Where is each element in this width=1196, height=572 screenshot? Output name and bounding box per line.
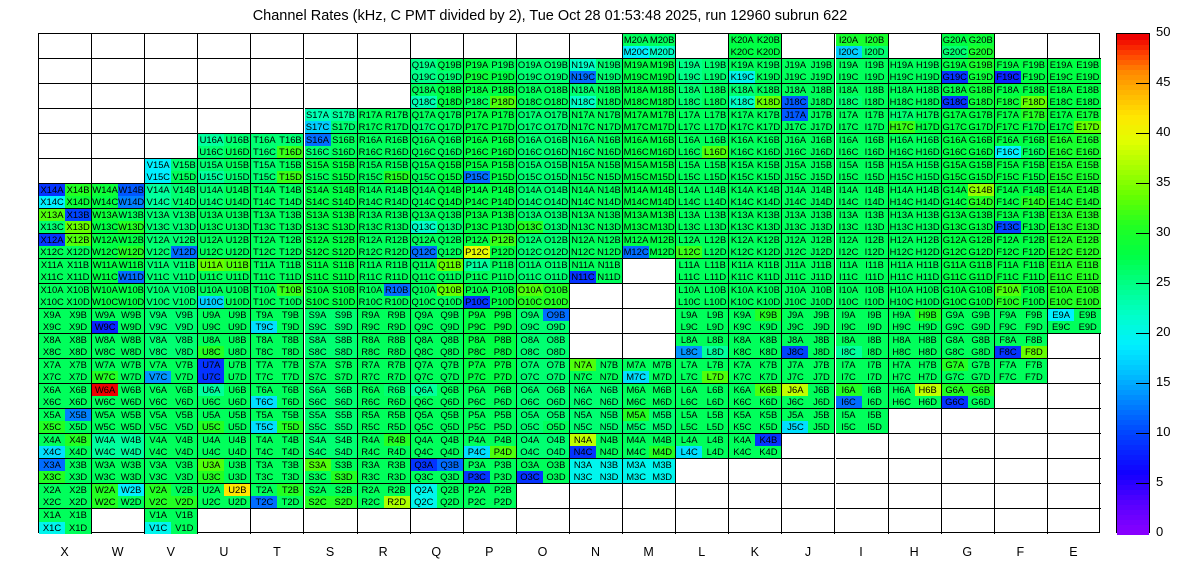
heatmap-cell-m20[interactable]: M20AM20BM20CM20D <box>623 34 676 59</box>
channel-j19c[interactable]: J19C <box>782 71 808 83</box>
heatmap-cell-o9[interactable]: O9AO9BO9CO9D <box>517 309 570 334</box>
channel-s13c[interactable]: S13C <box>305 221 331 233</box>
channel-m7c[interactable]: M7C <box>623 371 649 383</box>
channel-v7c[interactable]: V7C <box>145 371 171 383</box>
channel-k18a[interactable]: K18A <box>729 84 755 96</box>
channel-g12c[interactable]: G12C <box>942 246 968 258</box>
channel-s2b[interactable]: S2B <box>331 484 357 496</box>
channel-h19c[interactable]: H19C <box>889 71 915 83</box>
heatmap-cell-o7[interactable]: O7AO7BO7CO7D <box>517 359 570 384</box>
heatmap-cell-o17[interactable]: O17AO17BO17CO17D <box>517 109 570 134</box>
channel-o6d[interactable]: O6D <box>543 396 569 408</box>
channel-u13a[interactable]: U13A <box>198 209 224 221</box>
channel-i10b[interactable]: I10B <box>862 284 888 296</box>
heatmap-cell-q3[interactable]: Q3AQ3BQ3CQ3D <box>411 459 464 484</box>
channel-l14a[interactable]: L14A <box>676 184 702 196</box>
channel-w7c[interactable]: W7C <box>92 371 118 383</box>
heatmap-cell-q19[interactable]: Q19AQ19BQ19CQ19D <box>411 59 464 84</box>
heatmap-cell-r14[interactable]: R14AR14BR14CR14D <box>358 184 411 209</box>
channel-v15d[interactable]: V15D <box>171 171 197 183</box>
channel-t11a[interactable]: T11A <box>251 259 277 271</box>
channel-f15a[interactable]: F15A <box>995 159 1021 171</box>
channel-l8c[interactable]: L8C <box>676 346 702 358</box>
channel-e11c[interactable]: E11C <box>1048 271 1075 283</box>
channel-o11a[interactable]: O11A <box>517 259 543 271</box>
channel-v7a[interactable]: V7A <box>145 359 171 371</box>
heatmap-cell-p15[interactable]: P15AP15BP15CP15D <box>464 159 517 184</box>
channel-i9b[interactable]: I9B <box>862 309 888 321</box>
heatmap-cell-s14[interactable]: S14AS14BS14CS14D <box>305 184 358 209</box>
heatmap-cell-p20[interactable] <box>464 34 517 59</box>
channel-o3a[interactable]: O3A <box>517 459 543 471</box>
channel-s9b[interactable]: S9B <box>331 309 357 321</box>
channel-m16d[interactable]: M16D <box>649 146 675 158</box>
channel-f16b[interactable]: F16B <box>1021 134 1047 146</box>
channel-x9d[interactable]: X9D <box>65 321 91 333</box>
channel-l9b[interactable]: L9B <box>702 309 728 321</box>
channel-v4a[interactable]: V4A <box>145 434 171 446</box>
channel-m13c[interactable]: M13C <box>623 221 649 233</box>
channel-l4c[interactable]: L4C <box>676 446 702 458</box>
heatmap-cell-g4[interactable] <box>942 434 995 459</box>
heatmap-cell-x11[interactable]: X11AX11BX11CX11D <box>39 259 92 284</box>
channel-w9d[interactable]: W9D <box>118 321 144 333</box>
channel-s6c[interactable]: S6C <box>305 396 331 408</box>
channel-j6b[interactable]: J6B <box>808 384 834 396</box>
channel-u2a[interactable]: U2A <box>198 484 224 496</box>
heatmap-cell-w2[interactable]: W2AW2BW2CW2D <box>92 484 145 509</box>
heatmap-cell-x7[interactable]: X7AX7BX7CX7D <box>39 359 92 384</box>
heatmap-cell-e4[interactable] <box>1048 434 1101 459</box>
channel-n7d[interactable]: N7D <box>596 371 622 383</box>
channel-g6a[interactable]: G6A <box>942 384 968 396</box>
channel-i15a[interactable]: I15A <box>836 159 862 171</box>
channel-i11a[interactable]: I11A <box>836 259 862 271</box>
channel-j6a[interactable]: J6A <box>782 384 808 396</box>
heatmap-cell-m4[interactable]: M4AM4BM4CM4D <box>623 434 676 459</box>
channel-u6c[interactable]: U6C <box>198 396 224 408</box>
channel-p19b[interactable]: P19B <box>490 59 516 71</box>
channel-q10c[interactable]: Q10C <box>411 296 437 308</box>
channel-h9a[interactable]: H9A <box>889 309 915 321</box>
channel-u2d[interactable]: U2D <box>224 496 250 508</box>
channel-x4a[interactable]: X4A <box>39 434 65 446</box>
channel-o8d[interactable]: O8D <box>543 346 569 358</box>
heatmap-cell-i19[interactable]: I19AI19BI19CI19D <box>836 59 889 84</box>
channel-f17b[interactable]: F17B <box>1021 109 1047 121</box>
channel-u16b[interactable]: U16B <box>224 134 250 146</box>
channel-i7b[interactable]: I7B <box>862 359 888 371</box>
channel-o18d[interactable]: O18D <box>543 96 569 108</box>
channel-p7d[interactable]: P7D <box>490 371 516 383</box>
heatmap-cell-s10[interactable]: S10AS10BS10CS10D <box>305 284 358 309</box>
heatmap-cell-k20[interactable]: K20AK20BK20CK20D <box>729 34 782 59</box>
channel-j5b[interactable]: J5B <box>808 409 834 421</box>
channel-r17c[interactable]: R17C <box>358 121 384 133</box>
channel-l10c[interactable]: L10C <box>676 296 702 308</box>
channel-e14b[interactable]: E14B <box>1074 184 1101 196</box>
channel-n3c[interactable]: N3C <box>570 471 596 483</box>
heatmap-cell-m7[interactable]: M7AM7BM7CM7D <box>623 359 676 384</box>
channel-j15a[interactable]: J15A <box>782 159 808 171</box>
channel-g17d[interactable]: G17D <box>968 121 994 133</box>
channel-m4a[interactable]: M4A <box>623 434 649 446</box>
channel-g11c[interactable]: G11C <box>942 271 968 283</box>
channel-k8d[interactable]: K8D <box>755 346 781 358</box>
channel-o18c[interactable]: O18C <box>517 96 543 108</box>
channel-j15d[interactable]: J15D <box>808 171 834 183</box>
heatmap-cell-r1[interactable] <box>358 509 411 534</box>
channel-t4b[interactable]: T4B <box>277 434 303 446</box>
channel-q15d[interactable]: Q15D <box>437 171 463 183</box>
channel-m16c[interactable]: M16C <box>623 146 649 158</box>
heatmap-cell-o5[interactable]: O5AO5BO5CO5D <box>517 409 570 434</box>
heatmap-cell-h11[interactable]: H11AH11BH11CH11D <box>889 259 942 284</box>
channel-s15b[interactable]: S15B <box>331 159 357 171</box>
heatmap-cell-i2[interactable] <box>836 484 889 509</box>
channel-k17a[interactable]: K17A <box>729 109 755 121</box>
channel-u14b[interactable]: U14B <box>224 184 250 196</box>
channel-h16a[interactable]: H16A <box>889 134 915 146</box>
channel-s6b[interactable]: S6B <box>331 384 357 396</box>
channel-s13d[interactable]: S13D <box>331 221 357 233</box>
channel-s14c[interactable]: S14C <box>305 196 331 208</box>
channel-s8a[interactable]: S8A <box>305 334 331 346</box>
channel-i9a[interactable]: I9A <box>836 309 862 321</box>
channel-p6a[interactable]: P6A <box>464 384 490 396</box>
channel-k20d[interactable]: K20D <box>755 46 781 58</box>
heatmap-cell-r5[interactable]: R5AR5BR5CR5D <box>358 409 411 434</box>
channel-h10a[interactable]: H10A <box>889 284 915 296</box>
channel-v10d[interactable]: V10D <box>171 296 197 308</box>
channel-s6d[interactable]: S6D <box>331 396 357 408</box>
heatmap-cell-q9[interactable]: Q9AQ9BQ9CQ9D <box>411 309 464 334</box>
channel-e14c[interactable]: E14C <box>1048 196 1075 208</box>
channel-u7b[interactable]: U7B <box>224 359 250 371</box>
channel-v7d[interactable]: V7D <box>171 371 197 383</box>
channel-o12a[interactable]: O12A <box>517 234 543 246</box>
channel-l13b[interactable]: L13B <box>702 209 728 221</box>
channel-f12c[interactable]: F12C <box>995 246 1021 258</box>
channel-l14d[interactable]: L14D <box>702 196 728 208</box>
channel-o17d[interactable]: O17D <box>543 121 569 133</box>
channel-q13b[interactable]: Q13B <box>437 209 463 221</box>
channel-q15c[interactable]: Q15C <box>411 171 437 183</box>
channel-p6b[interactable]: P6B <box>490 384 516 396</box>
heatmap-cell-o18[interactable]: O18AO18BO18CO18D <box>517 84 570 109</box>
heatmap-cell-q5[interactable]: Q5AQ5BQ5CQ5D <box>411 409 464 434</box>
channel-m15c[interactable]: M15C <box>623 171 649 183</box>
heatmap-cell-e20[interactable] <box>1048 34 1101 59</box>
heatmap-cell-h5[interactable] <box>889 409 942 434</box>
heatmap-cell-k12[interactable]: K12AK12BK12CK12D <box>729 234 782 259</box>
channel-r6b[interactable]: R6B <box>384 384 410 396</box>
channel-i11c[interactable]: I11C <box>836 271 862 283</box>
channel-v8a[interactable]: V8A <box>145 334 171 346</box>
channel-p11a[interactable]: P11A <box>464 259 490 271</box>
channel-v4b[interactable]: V4B <box>171 434 197 446</box>
channel-p5d[interactable]: P5D <box>490 421 516 433</box>
channel-r16a[interactable]: R16A <box>358 134 384 146</box>
channel-p2c[interactable]: P2C <box>464 496 490 508</box>
heatmap-cell-k3[interactable] <box>729 459 782 484</box>
channel-x11c[interactable]: X11C <box>39 271 65 283</box>
heatmap-cell-u1[interactable] <box>198 509 251 534</box>
channel-h9b[interactable]: H9B <box>915 309 941 321</box>
heatmap-cell-l13[interactable]: L13AL13BL13CL13D <box>676 209 729 234</box>
channel-j5d[interactable]: J5D <box>808 421 834 433</box>
channel-v12c[interactable]: V12C <box>145 246 171 258</box>
channel-q5d[interactable]: Q5D <box>437 421 463 433</box>
channel-h16d[interactable]: H16D <box>915 146 941 158</box>
channel-s16b[interactable]: S16B <box>331 134 357 146</box>
channel-w12c[interactable]: W12C <box>92 246 118 258</box>
channel-g15d[interactable]: G15D <box>968 171 994 183</box>
channel-v11c[interactable]: V11C <box>145 271 171 283</box>
channel-i17d[interactable]: I17D <box>862 121 888 133</box>
channel-h6c[interactable]: H6C <box>889 396 915 408</box>
channel-g8a[interactable]: G8A <box>942 334 968 346</box>
channel-h10b[interactable]: H10B <box>915 284 941 296</box>
channel-e18a[interactable]: E18A <box>1048 84 1075 96</box>
heatmap-cell-s17[interactable]: S17AS17BS17CS17D <box>305 109 358 134</box>
channel-h16b[interactable]: H16B <box>915 134 941 146</box>
channel-j7a[interactable]: J7A <box>782 359 808 371</box>
channel-f13b[interactable]: F13B <box>1021 209 1047 221</box>
channel-r15d[interactable]: R15D <box>384 171 410 183</box>
channel-p18d[interactable]: P18D <box>490 96 516 108</box>
channel-q11d[interactable]: Q11D <box>437 271 463 283</box>
channel-f9b[interactable]: F9B <box>1021 309 1047 321</box>
channel-t10a[interactable]: T10A <box>251 284 277 296</box>
heatmap-cell-p5[interactable]: P5AP5BP5CP5D <box>464 409 517 434</box>
channel-f12d[interactable]: F12D <box>1021 246 1047 258</box>
heatmap-cell-k17[interactable]: K17AK17BK17CK17D <box>729 109 782 134</box>
channel-x11d[interactable]: X11D <box>65 271 91 283</box>
heatmap-cell-g19[interactable]: G19AG19BG19CG19D <box>942 59 995 84</box>
channel-l16d[interactable]: L16D <box>702 146 728 158</box>
heatmap-cell-e17[interactable]: E17AE17BE17CE17D <box>1048 109 1101 134</box>
channel-i16a[interactable]: I16A <box>836 134 862 146</box>
heatmap-cell-v8[interactable]: V8AV8BV8CV8D <box>145 334 198 359</box>
channel-p18b[interactable]: P18B <box>490 84 516 96</box>
channel-n4a[interactable]: N4A <box>570 434 596 446</box>
heatmap-cell-e18[interactable]: E18AE18BE18CE18D <box>1048 84 1101 109</box>
channel-v6d[interactable]: V6D <box>171 396 197 408</box>
channel-x10c[interactable]: X10C <box>39 296 65 308</box>
channel-i13a[interactable]: I13A <box>836 209 862 221</box>
channel-q18b[interactable]: Q18B <box>437 84 463 96</box>
channel-l5b[interactable]: L5B <box>702 409 728 421</box>
heatmap-cell-m1[interactable] <box>623 509 676 534</box>
heatmap-cell-n12[interactable]: N12AN12BN12CN12D <box>570 234 623 259</box>
channel-h9c[interactable]: H9C <box>889 321 915 333</box>
channel-p15b[interactable]: P15B <box>490 159 516 171</box>
channel-r3b[interactable]: R3B <box>384 459 410 471</box>
channel-t15b[interactable]: T15B <box>277 159 303 171</box>
channel-q6b[interactable]: Q6B <box>437 384 463 396</box>
channel-u6d[interactable]: U6D <box>224 396 250 408</box>
heatmap-cell-u13[interactable]: U13AU13BU13CU13D <box>198 209 251 234</box>
channel-t14c[interactable]: T14C <box>251 196 277 208</box>
channel-t5c[interactable]: T5C <box>251 421 277 433</box>
channel-k6a[interactable]: K6A <box>729 384 755 396</box>
channel-v4d[interactable]: V4D <box>171 446 197 458</box>
channel-n12b[interactable]: N12B <box>596 234 622 246</box>
channel-q3d[interactable]: Q3D <box>437 471 463 483</box>
heatmap-cell-r15[interactable]: R15AR15BR15CR15D <box>358 159 411 184</box>
channel-l12d[interactable]: L12D <box>702 246 728 258</box>
channel-q13d[interactable]: Q13D <box>437 221 463 233</box>
heatmap-cell-e2[interactable] <box>1048 484 1101 509</box>
channel-w2d[interactable]: W2D <box>118 496 144 508</box>
heatmap-cell-q20[interactable] <box>411 34 464 59</box>
channel-x14b[interactable]: X14B <box>65 184 91 196</box>
channel-m6c[interactable]: M6C <box>623 396 649 408</box>
channel-q2c[interactable]: Q2C <box>411 496 437 508</box>
channel-l18c[interactable]: L18C <box>676 96 702 108</box>
channel-u4b[interactable]: U4B <box>224 434 250 446</box>
heatmap-cell-l14[interactable]: L14AL14BL14CL14D <box>676 184 729 209</box>
heatmap-cell-n2[interactable] <box>570 484 623 509</box>
channel-p19d[interactable]: P19D <box>490 71 516 83</box>
channel-s17b[interactable]: S17B <box>331 109 357 121</box>
channel-m7a[interactable]: M7A <box>623 359 649 371</box>
channel-k11c[interactable]: K11C <box>729 271 755 283</box>
channel-i6a[interactable]: I6A <box>836 384 862 396</box>
channel-q11b[interactable]: Q11B <box>437 259 463 271</box>
channel-i19b[interactable]: I19B <box>862 59 888 71</box>
channel-r16c[interactable]: R16C <box>358 146 384 158</box>
channel-i12a[interactable]: I12A <box>836 234 862 246</box>
channel-n13d[interactable]: N13D <box>596 221 622 233</box>
heatmap-cell-u17[interactable] <box>198 109 251 134</box>
channel-r12d[interactable]: R12D <box>384 246 410 258</box>
heatmap-cell-h10[interactable]: H10AH10BH10CH10D <box>889 284 942 309</box>
channel-n14b[interactable]: N14B <box>596 184 622 196</box>
channel-f7c[interactable]: F7C <box>995 371 1021 383</box>
channel-h17c[interactable]: H17C <box>889 121 915 133</box>
heatmap-cell-t14[interactable]: T14AT14BT14CT14D <box>251 184 304 209</box>
channel-s7b[interactable]: S7B <box>331 359 357 371</box>
channel-m3a[interactable]: M3A <box>623 459 649 471</box>
channel-m4b[interactable]: M4B <box>649 434 675 446</box>
heatmap-cell-i6[interactable]: I6AI6BI6CI6D <box>836 384 889 409</box>
channel-e15b[interactable]: E15B <box>1074 159 1101 171</box>
channel-u12b[interactable]: U12B <box>224 234 250 246</box>
channel-p11b[interactable]: P11B <box>490 259 516 271</box>
channel-n13c[interactable]: N13C <box>570 221 596 233</box>
channel-t12c[interactable]: T12C <box>251 246 277 258</box>
channel-p13d[interactable]: P13D <box>490 221 516 233</box>
channel-f14d[interactable]: F14D <box>1021 196 1047 208</box>
channel-m16b[interactable]: M16B <box>649 134 675 146</box>
heatmap-cell-r20[interactable] <box>358 34 411 59</box>
channel-r10b[interactable]: R10B <box>384 284 410 296</box>
channel-n7b[interactable]: N7B <box>596 359 622 371</box>
channel-x8a[interactable]: X8A <box>39 334 65 346</box>
channel-g20a[interactable]: G20A <box>942 34 968 46</box>
heatmap-cell-t17[interactable] <box>251 109 304 134</box>
channel-h18c[interactable]: H18C <box>889 96 915 108</box>
channel-k9a[interactable]: K9A <box>729 309 755 321</box>
channel-e13c[interactable]: E13C <box>1048 221 1075 233</box>
channel-j8a[interactable]: J8A <box>782 334 808 346</box>
channel-p14a[interactable]: P14A <box>464 184 490 196</box>
heatmap-cell-o10[interactable]: O10AO10BO10CO10D <box>517 284 570 309</box>
channel-s17d[interactable]: S17D <box>331 121 357 133</box>
channel-r10d[interactable]: R10D <box>384 296 410 308</box>
channel-s7a[interactable]: S7A <box>305 359 331 371</box>
channel-w2c[interactable]: W2C <box>92 496 118 508</box>
heatmap-cell-r17[interactable]: R17AR17BR17CR17D <box>358 109 411 134</box>
channel-f11d[interactable]: F11D <box>1021 271 1047 283</box>
channel-q9a[interactable]: Q9A <box>411 309 437 321</box>
heatmap-cell-k4[interactable]: K4AK4BK4CK4D <box>729 434 782 459</box>
heatmap-cell-i15[interactable]: I15AI15BI15CI15D <box>836 159 889 184</box>
heatmap-cell-i12[interactable]: I12AI12BI12CI12D <box>836 234 889 259</box>
channel-s13a[interactable]: S13A <box>305 209 331 221</box>
heatmap-cell-f12[interactable]: F12AF12BF12CF12D <box>995 234 1048 259</box>
channel-f18b[interactable]: F18B <box>1021 84 1047 96</box>
channel-i16d[interactable]: I16D <box>862 146 888 158</box>
channel-m13b[interactable]: M13B <box>649 209 675 221</box>
channel-h12a[interactable]: H12A <box>889 234 915 246</box>
heatmap-cell-u6[interactable]: U6AU6BU6CU6D <box>198 384 251 409</box>
channel-w7b[interactable]: W7B <box>118 359 144 371</box>
channel-g8b[interactable]: G8B <box>968 334 994 346</box>
channel-o17b[interactable]: O17B <box>543 109 569 121</box>
channel-u7c[interactable]: U7C <box>198 371 224 383</box>
channel-q5b[interactable]: Q5B <box>437 409 463 421</box>
channel-f13d[interactable]: F13D <box>1021 221 1047 233</box>
channel-f14c[interactable]: F14C <box>995 196 1021 208</box>
channel-l4a[interactable]: L4A <box>676 434 702 446</box>
channel-k5d[interactable]: K5D <box>755 421 781 433</box>
channel-i9d[interactable]: I9D <box>862 321 888 333</box>
heatmap-cell-q8[interactable]: Q8AQ8BQ8CQ8D <box>411 334 464 359</box>
channel-j13d[interactable]: J13D <box>808 221 834 233</box>
heatmap-cell-r4[interactable]: R4AR4BR4CR4D <box>358 434 411 459</box>
heatmap-cell-f7[interactable]: F7AF7BF7CF7D <box>995 359 1048 384</box>
channel-t10c[interactable]: T10C <box>251 296 277 308</box>
channel-g18c[interactable]: G18C <box>942 96 968 108</box>
channel-n14d[interactable]: N14D <box>596 196 622 208</box>
heatmap-cell-o13[interactable]: O13AO13BO13CO13D <box>517 209 570 234</box>
channel-t6d[interactable]: T6D <box>277 396 303 408</box>
channel-q9c[interactable]: Q9C <box>411 321 437 333</box>
heatmap-cell-e3[interactable] <box>1048 459 1101 484</box>
channel-l8a[interactable]: L8A <box>676 334 702 346</box>
channel-g16a[interactable]: G16A <box>942 134 968 146</box>
heatmap-cell-i13[interactable]: I13AI13BI13CI13D <box>836 209 889 234</box>
heatmap-cell-g7[interactable]: G7AG7BG7CG7D <box>942 359 995 384</box>
channel-r5b[interactable]: R5B <box>384 409 410 421</box>
heatmap-cell-s1[interactable] <box>305 509 358 534</box>
heatmap-cell-j1[interactable] <box>782 509 835 534</box>
channel-m14c[interactable]: M14C <box>623 196 649 208</box>
channel-m19c[interactable]: M19C <box>623 71 649 83</box>
channel-l18a[interactable]: L18A <box>676 84 702 96</box>
heatmap-cell-l1[interactable] <box>676 509 729 534</box>
channel-q8a[interactable]: Q8A <box>411 334 437 346</box>
heatmap-cell-x16[interactable] <box>39 134 92 159</box>
channel-w3d[interactable]: W3D <box>118 471 144 483</box>
heatmap-cell-h3[interactable] <box>889 459 942 484</box>
heatmap-cell-f16[interactable]: F16AF16BF16CF16D <box>995 134 1048 159</box>
channel-n14c[interactable]: N14C <box>570 196 596 208</box>
channel-w4c[interactable]: W4C <box>92 446 118 458</box>
